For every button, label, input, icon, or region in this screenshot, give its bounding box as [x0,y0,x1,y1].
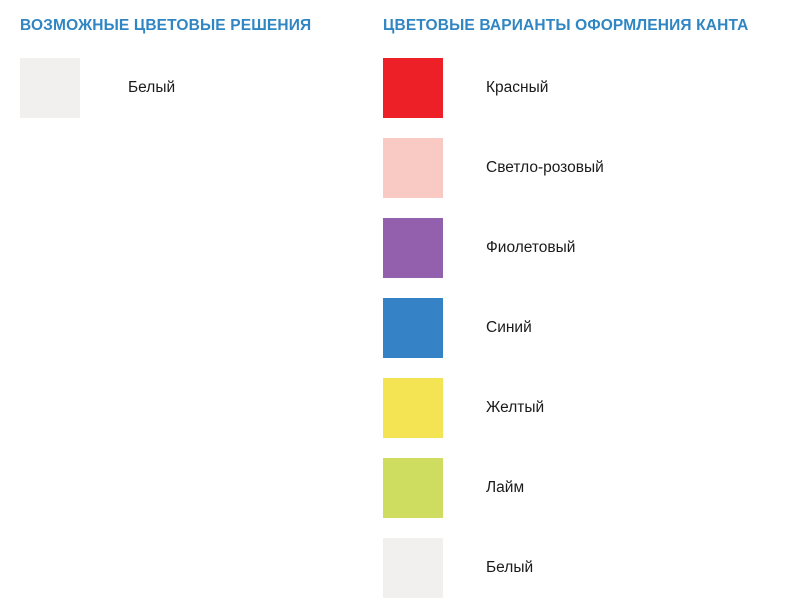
swatch-list-possible-color-solutions: Белый [20,58,368,118]
swatch-label: Желтый [486,398,544,418]
swatch-label: Белый [128,78,175,98]
column-possible-color-solutions: ВОЗМОЖНЫЕ ЦВЕТОВЫЕ РЕШЕНИЯ Белый [0,0,368,118]
color-swatch-icon[interactable] [20,58,80,118]
swatch-label: Белый [486,558,533,578]
swatch-row[interactable]: Светло-розовый [383,138,800,198]
color-swatch-icon[interactable] [383,538,443,598]
swatch-label: Фиолетовый [486,238,575,258]
column-heading-edging-color-options: ЦВЕТОВЫЕ ВАРИАНТЫ ОФОРМЛЕНИЯ КАНТА [383,16,800,35]
color-swatch-icon[interactable] [383,218,443,278]
swatch-label: Красный [486,78,548,98]
color-swatch-icon[interactable] [383,378,443,438]
color-swatch-icon[interactable] [383,298,443,358]
color-swatch-icon[interactable] [383,58,443,118]
color-swatch-icon[interactable] [383,138,443,198]
swatch-row[interactable]: Красный [383,58,800,118]
swatch-list-edging-color-options: Красный Светло-розовый Фиолетовый Синий … [383,58,800,598]
swatch-row[interactable]: Желтый [383,378,800,438]
swatch-row[interactable]: Белый [383,538,800,598]
color-swatch-icon[interactable] [383,458,443,518]
column-heading-possible-color-solutions: ВОЗМОЖНЫЕ ЦВЕТОВЫЕ РЕШЕНИЯ [20,16,368,35]
swatch-row[interactable]: Фиолетовый [383,218,800,278]
swatch-label: Лайм [486,478,524,498]
swatch-row[interactable]: Лайм [383,458,800,518]
swatch-label: Светло-розовый [486,158,604,178]
column-edging-color-options: ЦВЕТОВЫЕ ВАРИАНТЫ ОФОРМЛЕНИЯ КАНТА Красн… [368,0,800,598]
swatch-row[interactable]: Белый [20,58,368,118]
swatch-row[interactable]: Синий [383,298,800,358]
swatch-label: Синий [486,318,532,338]
color-palette-board: ВОЗМОЖНЫЕ ЦВЕТОВЫЕ РЕШЕНИЯ Белый ЦВЕТОВЫ… [0,0,800,600]
